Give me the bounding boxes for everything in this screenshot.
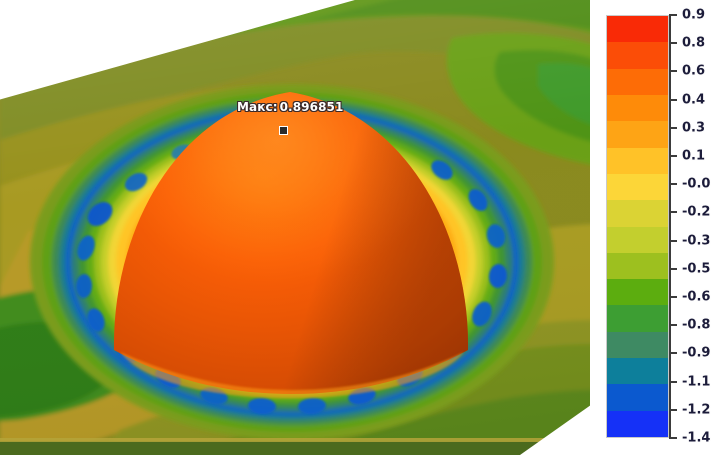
colorbar-band-11: [607, 305, 668, 331]
colorbar-strip[interactable]: [606, 15, 669, 438]
colorbar-band-12: [607, 332, 668, 358]
colorbar-band-2: [607, 69, 668, 95]
colorbar-tick-14: [669, 409, 677, 411]
surface-plot-canvas[interactable]: [0, 0, 596, 455]
colorbar-band-7: [607, 200, 668, 226]
colorbar-band-1: [607, 42, 668, 68]
colorbar-tick-2: [669, 70, 677, 72]
colorbar-tick-7: [669, 211, 677, 213]
colorbar-axis: 0.90.80.60.40.30.1-0.0-0.2-0.3-0.5-0.6-0…: [669, 15, 721, 438]
colorbar-tick-label-11: -0.8: [682, 318, 710, 333]
colorbar-band-3: [607, 95, 668, 121]
colorbar-tick-3: [669, 99, 677, 101]
colorbar-tick-11: [669, 324, 677, 326]
colorbar-tick-5: [669, 155, 677, 157]
colorbar-axis-spine: [669, 15, 671, 438]
colorbar-tick-label-13: -1.1: [682, 374, 710, 389]
colorbar-tick-label-8: -0.3: [682, 233, 710, 248]
colorbar-band-0: [607, 16, 668, 42]
colorbar-tick-9: [669, 268, 677, 270]
colorbar-tick-10: [669, 296, 677, 298]
colorbar-tick-label-3: 0.4: [682, 92, 705, 107]
colorbar-panel: 0.90.80.60.40.30.1-0.0-0.2-0.3-0.5-0.6-0…: [596, 0, 721, 455]
colorbar-tick-0: [669, 14, 677, 16]
colorbar-band-13: [607, 358, 668, 384]
colorbar-tick-label-7: -0.2: [682, 205, 710, 220]
colorbar-tick-label-10: -0.6: [682, 290, 710, 305]
colorbar-tick-1: [669, 42, 677, 44]
plot-viewport[interactable]: Макс:0.896851: [0, 0, 596, 455]
colorbar-tick-12: [669, 352, 677, 354]
colorbar-tick-label-6: -0.0: [682, 177, 710, 192]
colorbar-tick-13: [669, 381, 677, 383]
colorbar-tick-label-1: 0.8: [682, 36, 705, 51]
colorbar-tick-label-0: 0.9: [682, 8, 705, 23]
colorbar-tick-label-14: -1.2: [682, 402, 710, 417]
colorbar-band-6: [607, 174, 668, 200]
colorbar-tick-4: [669, 127, 677, 129]
contour-plot-application: Макс:0.896851 0.90.80.60.40.30.1-0.0-0.2…: [0, 0, 721, 455]
colorbar-band-4: [607, 121, 668, 147]
colorbar-band-15: [607, 411, 668, 437]
colorbar-tick-15: [669, 437, 677, 439]
colorbar-tick-label-15: -1.4: [682, 431, 710, 446]
colorbar-tick-6: [669, 183, 677, 185]
colorbar-tick-label-5: 0.1: [682, 149, 705, 164]
colorbar-tick-8: [669, 240, 677, 242]
colorbar-band-14: [607, 384, 668, 410]
colorbar-band-5: [607, 148, 668, 174]
colorbar-band-9: [607, 253, 668, 279]
colorbar-tick-label-4: 0.3: [682, 120, 705, 135]
colorbar-band-8: [607, 227, 668, 253]
colorbar-tick-label-12: -0.9: [682, 346, 710, 361]
colorbar-tick-label-9: -0.5: [682, 261, 710, 276]
colorbar-tick-label-2: 0.6: [682, 64, 705, 79]
colorbar-band-10: [607, 279, 668, 305]
